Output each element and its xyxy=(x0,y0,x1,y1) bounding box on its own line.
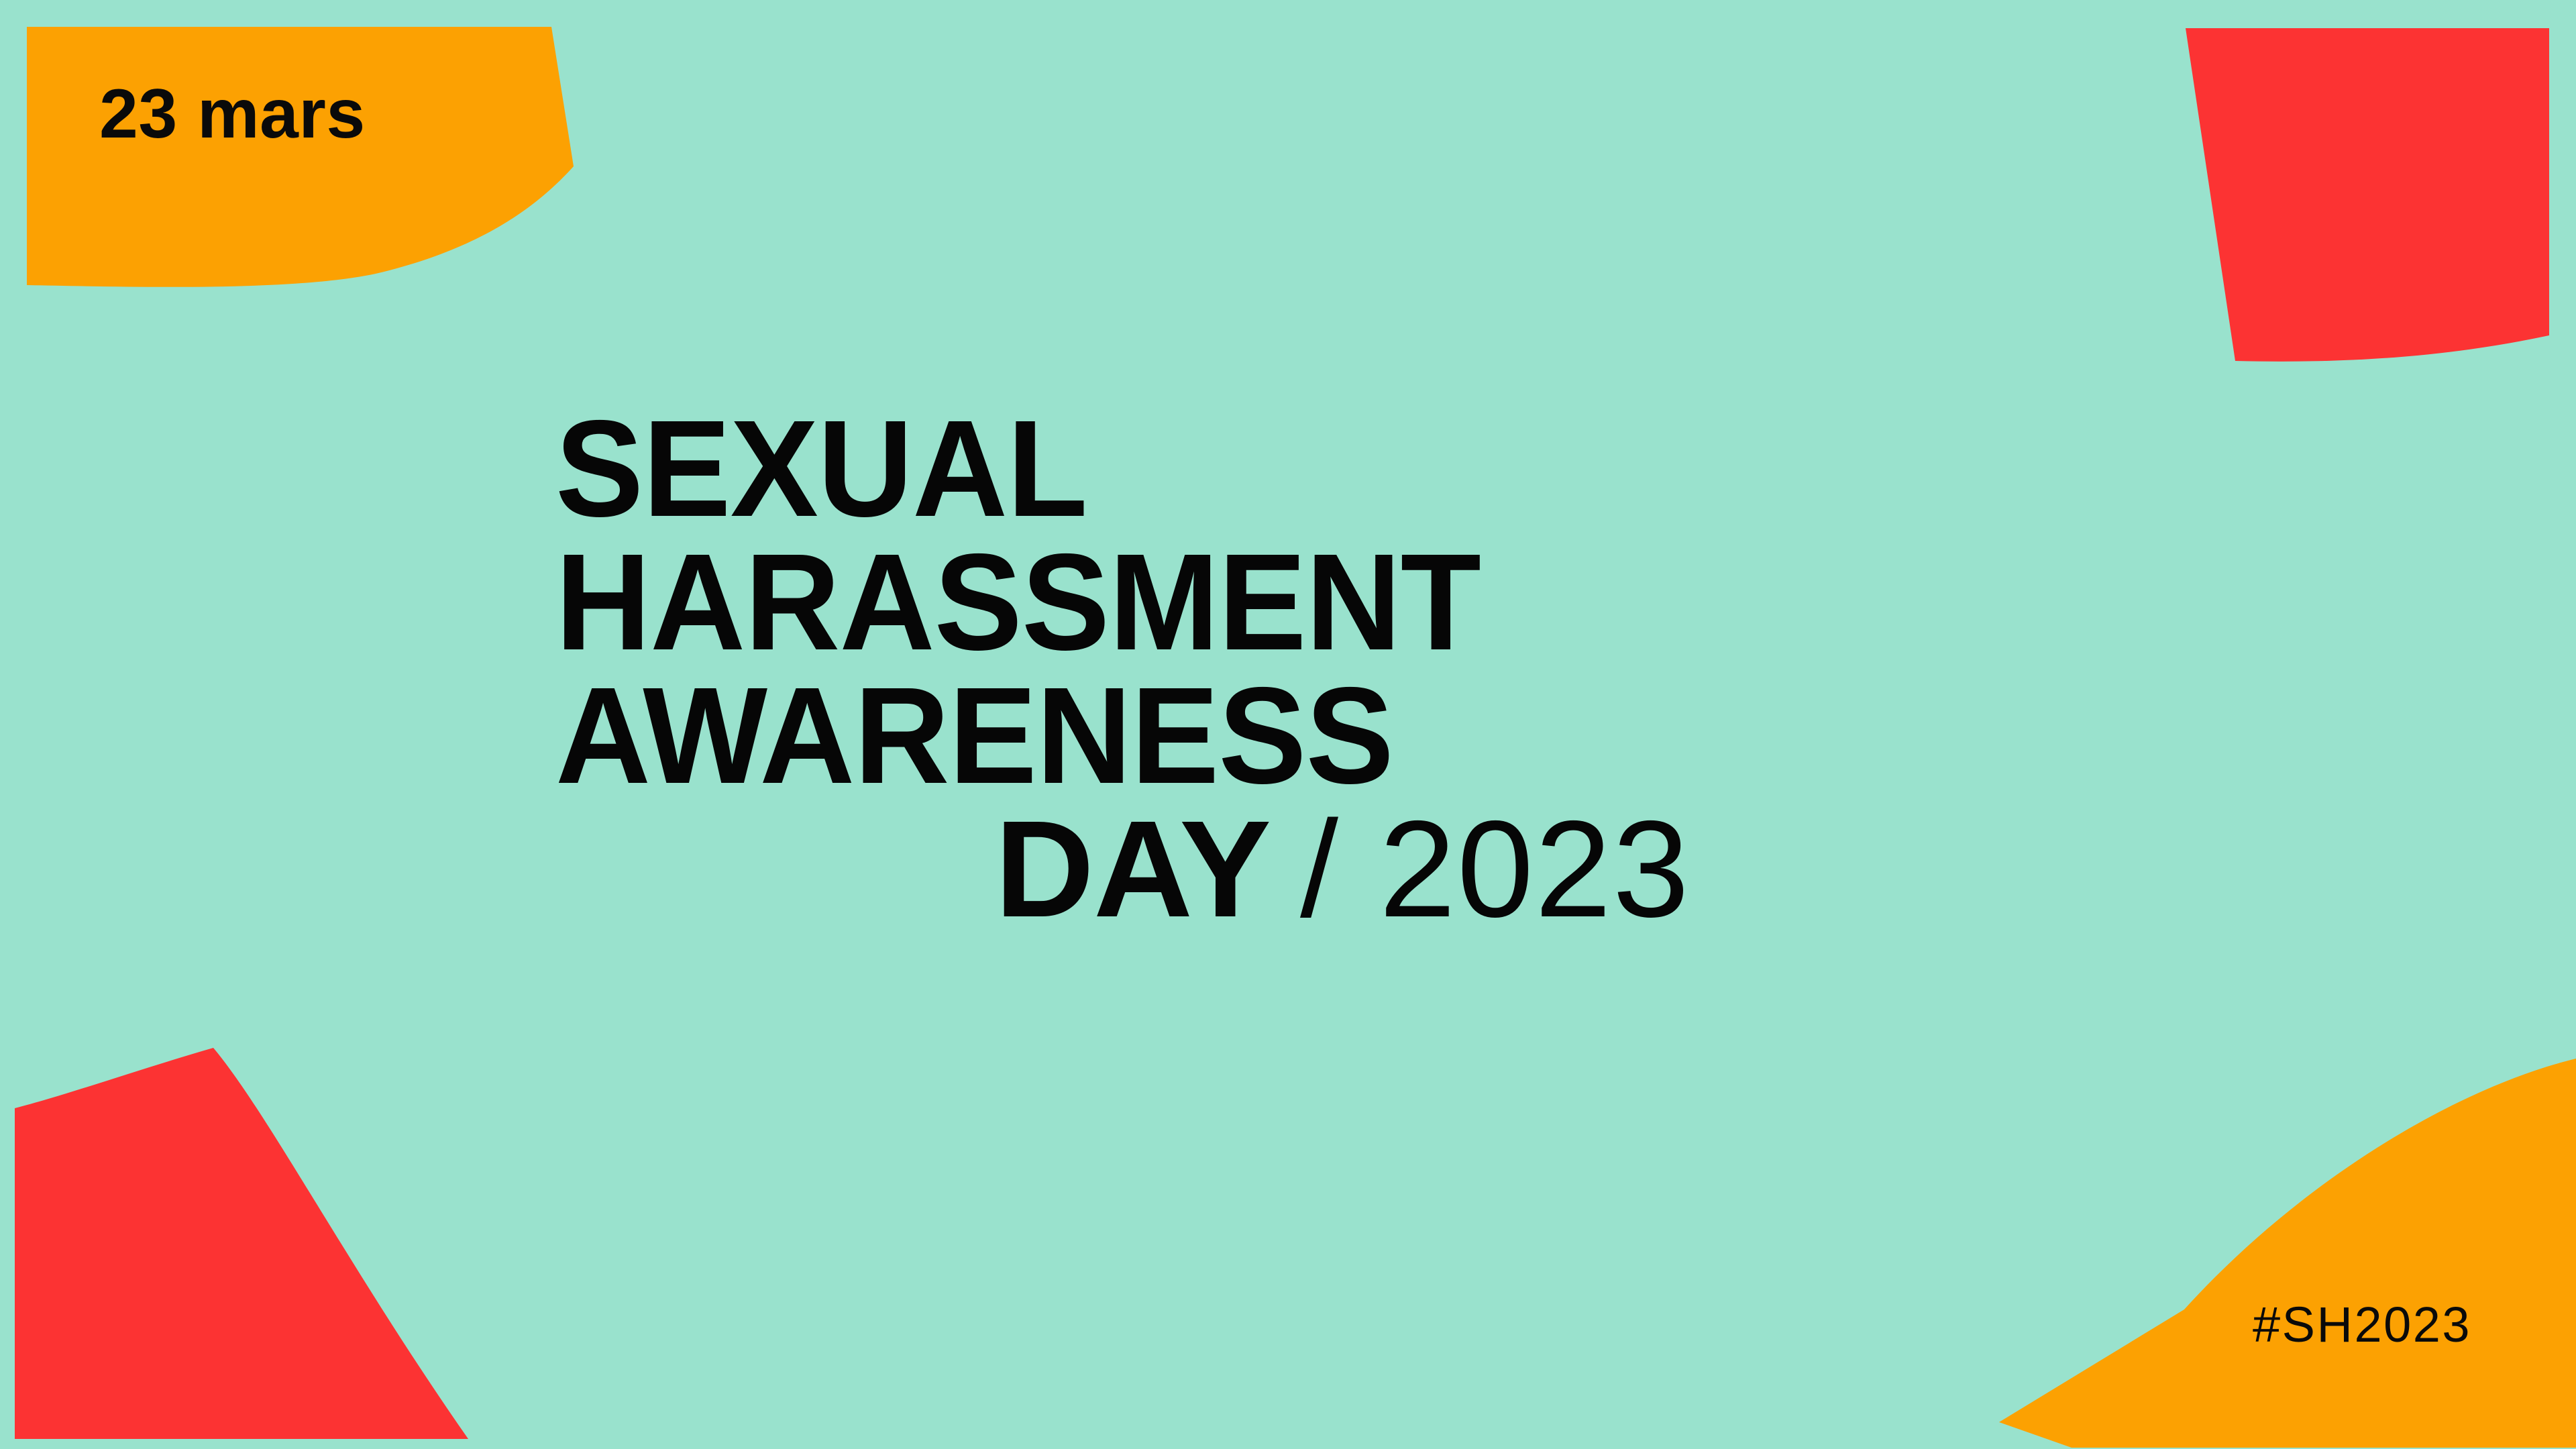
hashtag-label: #SH2023 xyxy=(2253,1300,2471,1350)
red-quarter-shape xyxy=(0,1006,523,1449)
red-trapezoid-shape xyxy=(2147,0,2576,389)
orange-quarter-shape xyxy=(0,0,604,315)
headline-line-2: HARASSMENT xyxy=(555,536,2101,669)
orange-fan-shape xyxy=(1986,1020,2576,1449)
date-badge: 23 mars xyxy=(99,79,366,149)
headline-word-day: DAY xyxy=(995,792,1271,946)
headline-line-4: DAY/ 2023 xyxy=(555,803,2165,936)
headline-line-3: AWARENESS xyxy=(555,669,2101,803)
headline-line-1: SEXUAL xyxy=(555,402,2101,536)
headline-block: SEXUAL HARASSMENT AWARENESS DAY/ 2023 xyxy=(555,402,2165,936)
poster-canvas: 23 mars SEXUAL HARASSMENT AWARENESS DAY/… xyxy=(0,0,2576,1449)
headline-word-year: / 2023 xyxy=(1300,792,1690,946)
